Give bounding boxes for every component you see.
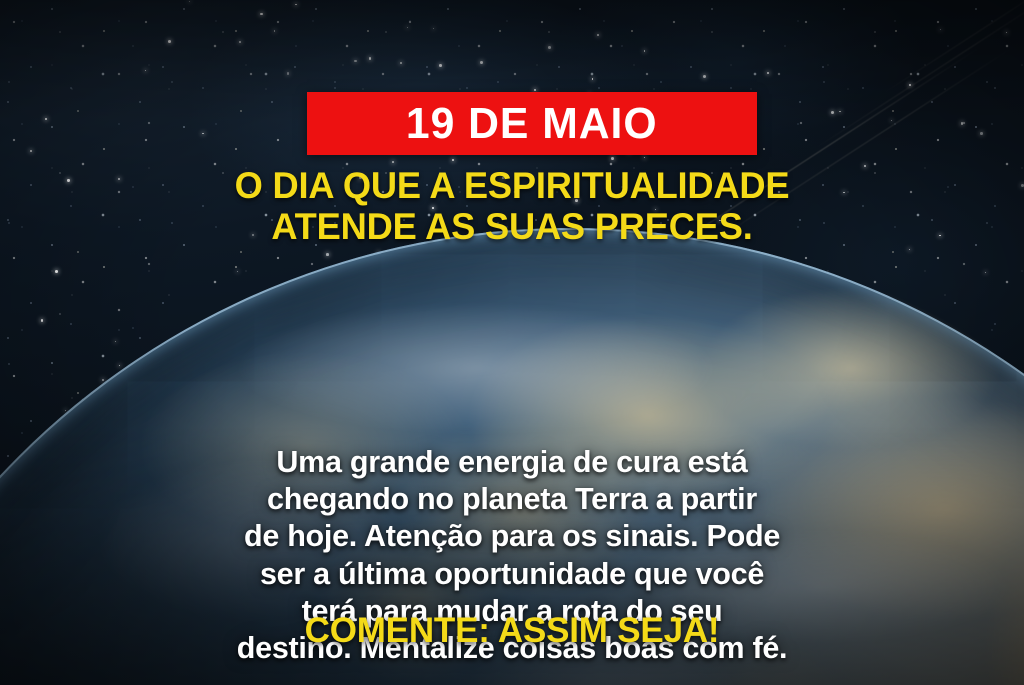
body-line-4: ser a última oportunidade que você xyxy=(8,555,1017,592)
headline: O DIA QUE A ESPIRITUALIDADE ATENDE AS SU… xyxy=(0,165,1024,247)
body-line-2: chegando no planeta Terra a partir xyxy=(8,480,1017,517)
social-media-poster: 19 DE MAIO O DIA QUE A ESPIRITUALIDADE A… xyxy=(0,0,1024,685)
headline-line-1: O DIA QUE A ESPIRITUALIDADE xyxy=(10,165,1014,206)
headline-line-2: ATENDE AS SUAS PRECES. xyxy=(10,206,1014,247)
call-to-action: COMENTE: ASSIM SEJA! xyxy=(0,613,1024,648)
body-line-1: Uma grande energia de cura está xyxy=(8,443,1017,480)
poster-content: 19 DE MAIO O DIA QUE A ESPIRITUALIDADE A… xyxy=(0,0,1024,685)
date-banner-label: 19 DE MAIO xyxy=(406,102,658,146)
date-banner: 19 DE MAIO xyxy=(307,92,757,155)
body-line-3: de hoje. Atenção para os sinais. Pode xyxy=(8,517,1017,554)
call-to-action-label: COMENTE: ASSIM SEJA! xyxy=(305,611,720,650)
